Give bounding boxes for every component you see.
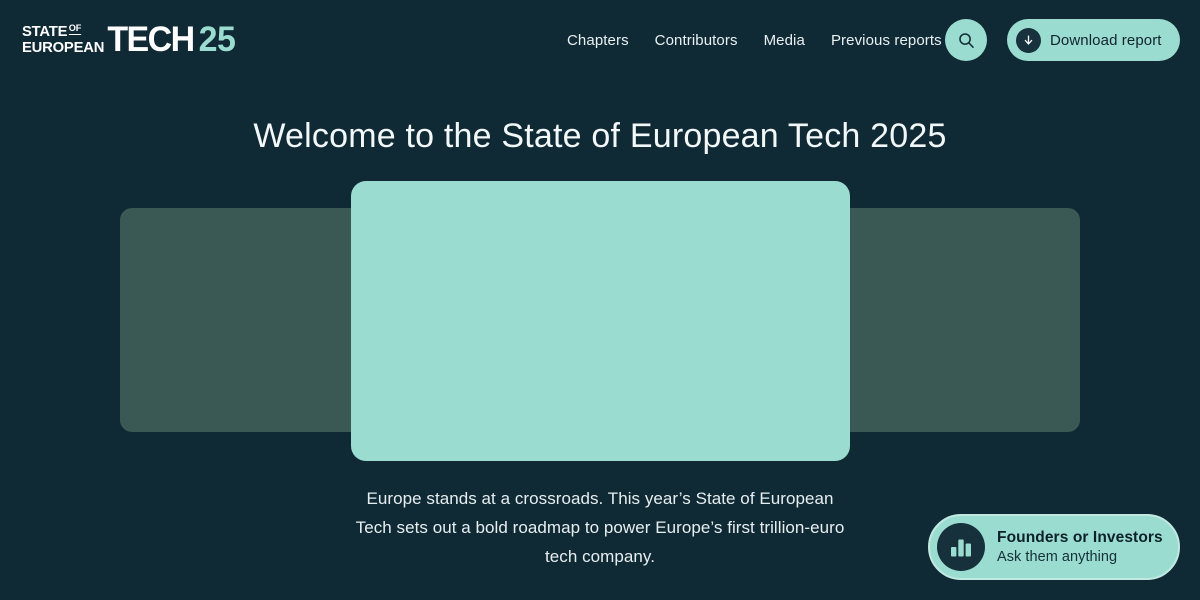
nav-item-chapters[interactable]: Chapters (567, 32, 629, 49)
primary-navigation: Chapters Contributors Media Previous rep… (567, 0, 942, 80)
search-icon (957, 31, 976, 50)
nav-item-media[interactable]: Media (764, 32, 805, 49)
download-report-label: Download report (1050, 32, 1162, 49)
site-logo[interactable]: STATE OF EUROPEAN TECH 25 (22, 23, 236, 57)
nav-item-previous-reports[interactable]: Previous reports (831, 32, 942, 49)
widget-subtitle: Ask them anything (997, 548, 1163, 566)
logo-tech-text: TECH (107, 23, 193, 57)
logo-line-european: EUROPEAN (22, 41, 104, 56)
download-arrow-icon (1022, 34, 1035, 47)
logo-state-text: STATE (22, 25, 67, 40)
widget-text-block: Founders or Investors Ask them anything (997, 528, 1163, 566)
logo-line-state-of: STATE OF (22, 25, 104, 40)
download-report-button[interactable]: Download report (1007, 19, 1180, 61)
founders-investors-widget[interactable]: Founders or Investors Ask them anything (928, 514, 1180, 580)
logo-of-text: OF (69, 24, 81, 35)
search-button[interactable] (945, 19, 987, 61)
widget-title: Founders or Investors (997, 528, 1163, 547)
logo-year-text: 25 (199, 23, 236, 57)
download-arrow-icon-wrap (1016, 28, 1041, 53)
site-header: STATE OF EUROPEAN TECH 25 Chapters Contr… (0, 0, 1200, 80)
logo-european-text: EUROPEAN (22, 41, 104, 56)
hero-media-carousel[interactable] (0, 181, 1200, 461)
hero-description: Europe stands at a crossroads. This year… (350, 484, 850, 571)
bar-chart-icon-wrap (937, 523, 985, 571)
logo-wordmark-stack: STATE OF EUROPEAN (22, 25, 104, 56)
page-title: Welcome to the State of European Tech 20… (0, 114, 1200, 158)
nav-item-contributors[interactable]: Contributors (655, 32, 738, 49)
bar-chart-icon (949, 536, 973, 558)
carousel-active-card[interactable] (351, 181, 850, 461)
